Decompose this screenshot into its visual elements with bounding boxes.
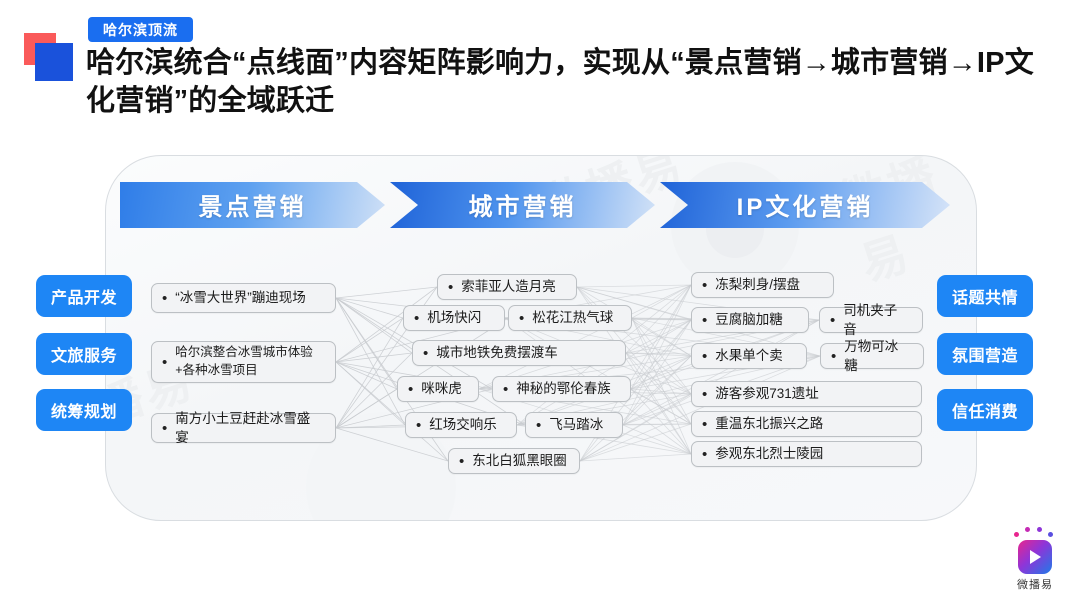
bullet-icon: • (702, 349, 707, 364)
node-label: “冰雪大世界”蹦迪现场 (175, 288, 323, 307)
node-item[interactable]: •哈尔滨整合冰雪城市体验+各种冰雪项目 (151, 341, 336, 383)
bullet-icon: • (459, 454, 464, 469)
node-item[interactable]: •参观东北烈士陵园 (691, 441, 922, 467)
node-item[interactable]: •豆腐脑加糖 (691, 307, 809, 333)
node-item[interactable]: •东北白狐黑眼圈 (448, 448, 580, 474)
node-label: 重温东北振兴之路 (715, 414, 909, 433)
node-item[interactable]: •神秘的鄂伦春族 (492, 376, 631, 402)
brand-logo: 微播易 (1004, 540, 1066, 592)
bullet-icon: • (414, 311, 419, 326)
node-item[interactable]: •水果单个卖 (691, 343, 807, 369)
sidebar-item-tourism-service[interactable]: 文旅服务 (36, 333, 132, 375)
decorative-square-blue (35, 43, 73, 81)
pill-label: 话题共情 (952, 284, 1018, 308)
node-item[interactable]: •机场快闪 (403, 305, 505, 331)
node-item[interactable]: •游客参观731遗址 (691, 381, 922, 407)
node-item[interactable]: •司机夹子音 (819, 307, 923, 333)
node-label: 索菲亚人造月亮 (461, 277, 564, 296)
sidebar-item-trust-consumption[interactable]: 信任消费 (937, 389, 1033, 431)
stage-label: IP文化营销 (737, 187, 874, 222)
node-item[interactable]: •咪咪虎 (397, 376, 479, 402)
bullet-icon: • (416, 418, 421, 433)
node-item[interactable]: •飞马踏冰 (525, 412, 623, 438)
node-item[interactable]: •重温东北振兴之路 (691, 411, 922, 437)
pill-label: 文旅服务 (51, 342, 117, 366)
node-item[interactable]: •城市地铁免费摆渡车 (412, 340, 626, 366)
pill-label: 统筹规划 (51, 398, 117, 422)
bullet-icon: • (162, 291, 167, 306)
bullet-icon: • (162, 421, 167, 436)
node-label: 机场快闪 (427, 308, 492, 327)
node-label: 游客参观731遗址 (715, 384, 909, 403)
stage-label: 景点营销 (199, 187, 307, 222)
bullet-icon: • (702, 313, 707, 328)
node-item[interactable]: •索菲亚人造月亮 (437, 274, 577, 300)
stage-label: 城市营销 (469, 187, 577, 222)
bullet-icon: • (503, 382, 508, 397)
node-label: 东北白狐黑眼圈 (472, 451, 567, 470)
node-label: 飞马踏冰 (549, 415, 610, 434)
bullet-icon: • (162, 355, 167, 370)
bullet-icon: • (702, 278, 707, 293)
node-item[interactable]: •“冰雪大世界”蹦迪现场 (151, 283, 336, 313)
stage-banner-city: 城市营销 (390, 182, 655, 228)
node-item[interactable]: •松花江热气球 (508, 305, 632, 331)
bullet-icon: • (519, 311, 524, 326)
node-label: 哈尔滨整合冰雪城市体验+各种冰雪项目 (175, 344, 323, 380)
node-label: 红场交响乐 (429, 415, 504, 434)
brand-logo-label: 微播易 (1004, 576, 1066, 592)
node-label: 神秘的鄂伦春族 (516, 379, 618, 398)
bullet-icon: • (831, 349, 836, 364)
stage-banner-scenic: 景点营销 (120, 182, 385, 228)
node-item[interactable]: •红场交响乐 (405, 412, 517, 438)
pill-label: 产品开发 (51, 284, 117, 308)
bullet-icon: • (448, 280, 453, 295)
node-label: 司机夹子音 (843, 301, 910, 339)
node-label: 豆腐脑加糖 (715, 310, 796, 329)
node-label: 南方小土豆赶赴冰雪盛宴 (175, 409, 323, 447)
page-title: 哈尔滨统合“点线面”内容矩阵影响力，实现从“景点营销→城市营销→IP文化营销”的… (86, 44, 1051, 121)
node-label: 水果单个卖 (715, 346, 794, 365)
bullet-icon: • (702, 387, 707, 402)
node-item[interactable]: •南方小土豆赶赴冰雪盛宴 (151, 413, 336, 443)
node-label: 城市地铁免费摆渡车 (436, 343, 613, 362)
node-label: 松花江热气球 (532, 308, 619, 327)
stage-banner-ip-culture: IP文化营销 (660, 182, 950, 228)
bullet-icon: • (423, 346, 428, 361)
bullet-icon: • (830, 313, 835, 328)
node-item[interactable]: •万物可冰糖 (820, 343, 924, 369)
sidebar-item-overall-planning[interactable]: 统筹规划 (36, 389, 132, 431)
node-label: 参观东北烈士陵园 (715, 444, 909, 463)
sidebar-item-atmosphere-building[interactable]: 氛围营造 (937, 333, 1033, 375)
bullet-icon: • (536, 418, 541, 433)
node-label: 咪咪虎 (421, 379, 466, 398)
status-badge: 哈尔滨顶流 (88, 17, 193, 42)
node-label: 万物可冰糖 (844, 337, 911, 375)
node-item[interactable]: •冻梨刺身/摆盘 (691, 272, 834, 298)
bullet-icon: • (408, 382, 413, 397)
bullet-icon: • (702, 447, 707, 462)
sidebar-item-topic-empathy[interactable]: 话题共情 (937, 275, 1033, 317)
node-label: 冻梨刺身/摆盘 (715, 275, 821, 294)
pill-label: 氛围营造 (952, 342, 1018, 366)
play-icon (1018, 540, 1052, 574)
bullet-icon: • (702, 417, 707, 432)
sidebar-item-product-development[interactable]: 产品开发 (36, 275, 132, 317)
pill-label: 信任消费 (952, 398, 1018, 422)
